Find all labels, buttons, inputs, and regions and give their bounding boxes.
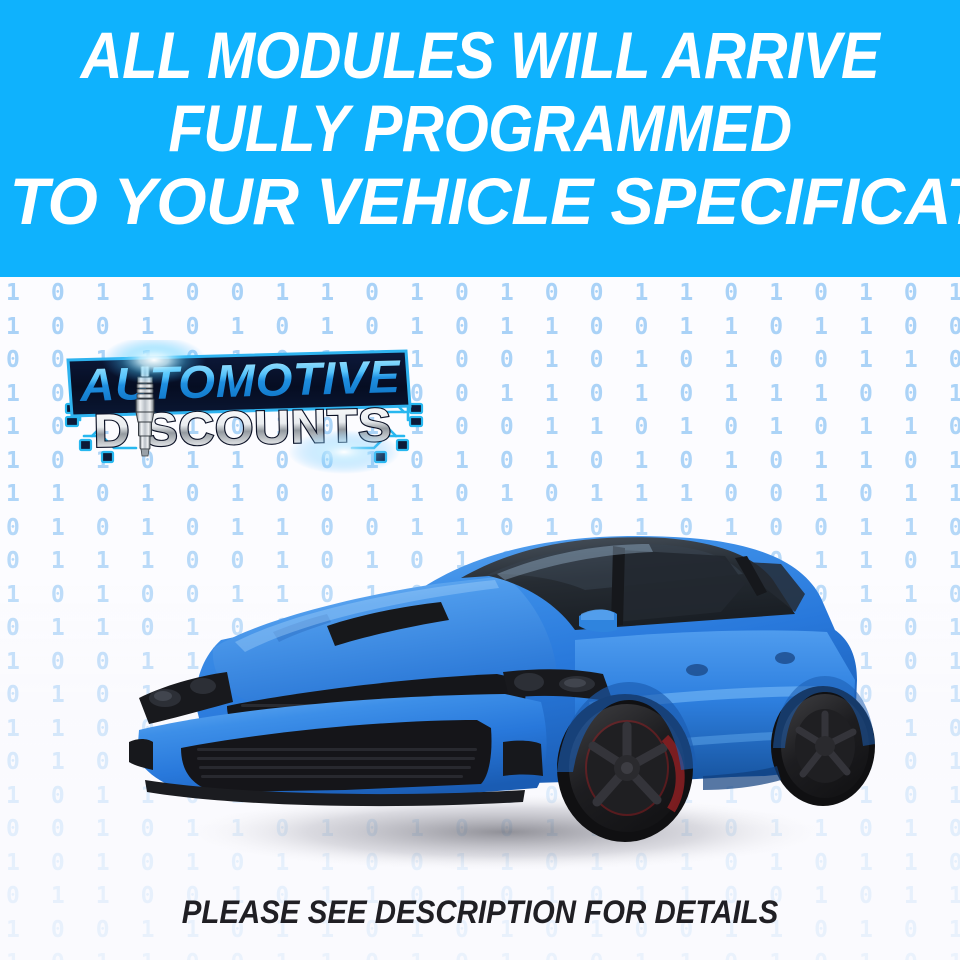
front-fascia: SRT [129, 669, 613, 806]
vehicle-shadow [175, 792, 835, 872]
headline-banner: ALL MODULES WILL ARRIVE FULLY PROGRAMMED… [0, 0, 960, 277]
door-handle-rear [775, 652, 795, 664]
logo-glow-bottom [288, 430, 400, 474]
promo-banner-canvas: 1 0 1 1 0 0 1 1 0 1 0 1 0 0 1 1 0 1 0 1 … [0, 0, 960, 960]
bumper-vent-right [503, 741, 543, 776]
bumper-vent-left [129, 739, 153, 770]
headline-line-2: FULLY PROGRAMMED [58, 92, 903, 164]
headline-line-1: ALL MODULES WILL ARRIVE [58, 19, 903, 91]
vehicle-photo: SRT [105, 480, 895, 880]
footer-note: PLEASE SEE DESCRIPTION FOR DETAILS [38, 893, 921, 931]
headline-line-3: TO YOUR VEHICLE SPECIFICATIONS. [10, 165, 951, 237]
door-handle-front [686, 664, 708, 676]
brand-logo: AUTOMOTIVE D SCOUNTS [58, 340, 430, 480]
